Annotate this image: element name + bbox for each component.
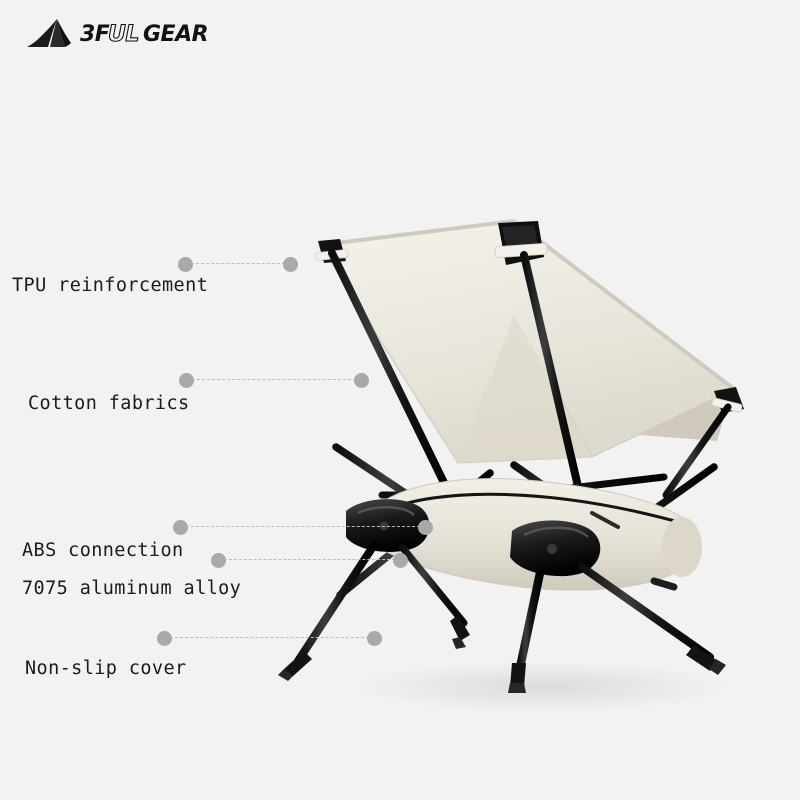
svg-text:GEAR: GEAR: [143, 22, 208, 47]
svg-text:UL: UL: [108, 22, 139, 47]
leader-line-abs-connection: [173, 519, 433, 535]
storage-bag-strap: [654, 581, 674, 587]
brand-wordmark: 3F UL GEAR: [80, 21, 230, 47]
leader-dash: [186, 526, 420, 527]
non-slip-foot-front-left: [278, 651, 312, 681]
leader-dot-start: [211, 553, 226, 568]
leader-dot-start: [178, 257, 193, 272]
leader-dot-start: [157, 631, 172, 646]
callout-label-cotton-fabrics: Cotton fabrics: [28, 395, 190, 414]
leader-line-non-slip-cover: [157, 630, 382, 646]
product-infographic: 3F UL GEAR: [0, 0, 800, 800]
leader-dot-end: [283, 257, 298, 272]
callout-label-aluminum-alloy: 7075 aluminum alloy: [22, 580, 241, 599]
leader-dash: [224, 559, 395, 560]
leader-dot-end: [393, 553, 408, 568]
leader-dot-end: [354, 373, 369, 388]
storage-bag-end-cap: [662, 517, 702, 577]
svg-text:3F: 3F: [80, 22, 110, 47]
leader-dash: [191, 263, 285, 264]
non-slip-foot-back-left: [450, 615, 470, 649]
callout-label-abs-connection: ABS connection: [22, 542, 184, 561]
leader-dash: [192, 379, 356, 380]
leader-dot-end: [367, 631, 382, 646]
tent-mountain-icon: [26, 18, 72, 50]
leader-dot-end: [418, 520, 433, 535]
leader-dot-start: [179, 373, 194, 388]
ground-shadow: [352, 661, 732, 713]
leader-dot-start: [173, 520, 188, 535]
leader-line-cotton-fabrics: [179, 372, 369, 388]
leader-dash: [170, 637, 369, 638]
callout-label-tpu-reinforcement: TPU reinforcement: [12, 277, 208, 296]
leader-line-tpu-reinforcement: [178, 256, 298, 272]
brand-logo: 3F UL GEAR: [26, 18, 230, 50]
leader-line-aluminum-alloy: [211, 552, 408, 568]
callout-label-non-slip-cover: Non-slip cover: [25, 660, 187, 679]
